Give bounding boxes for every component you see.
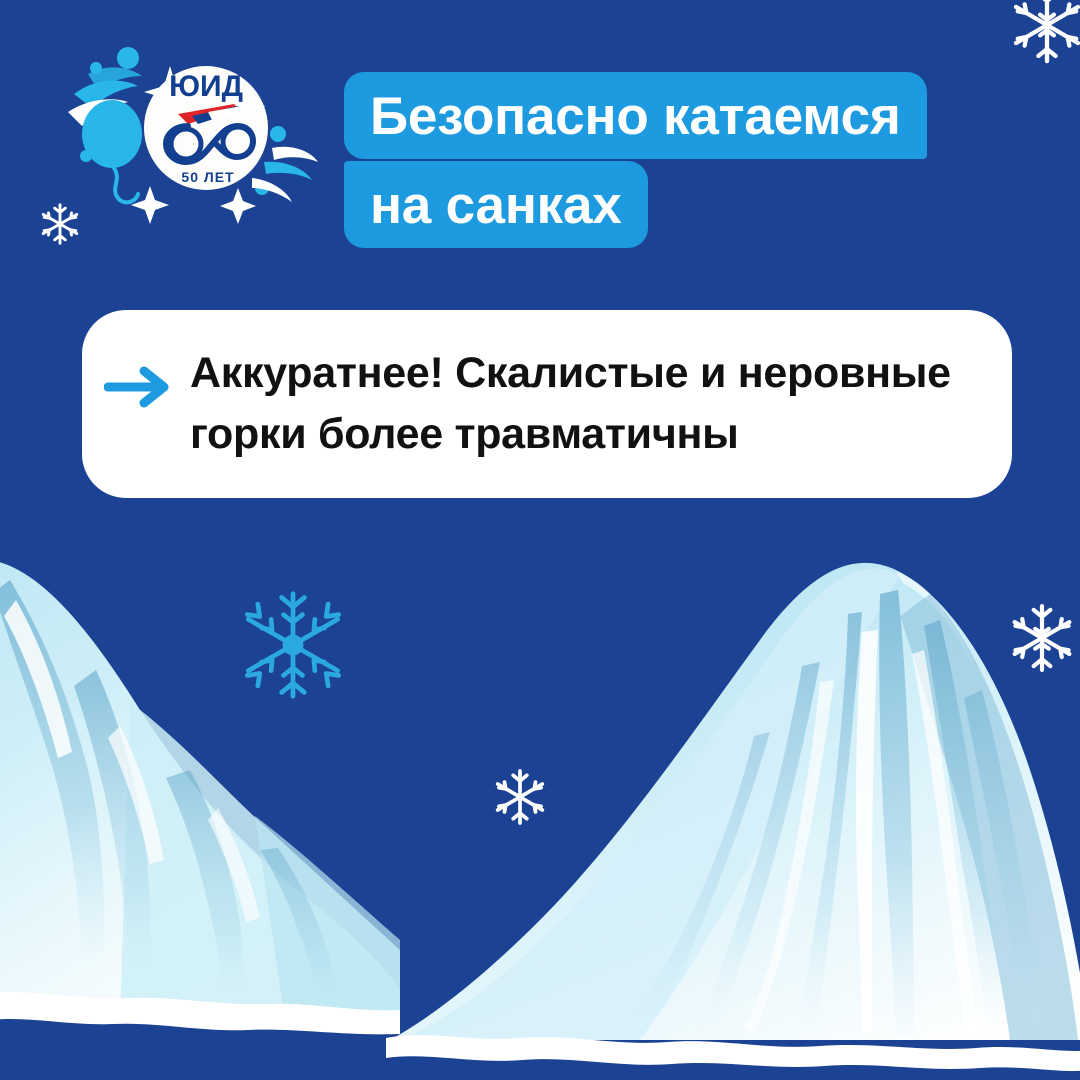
snowflake-large-cyan-icon <box>236 588 350 702</box>
logo-brand-text: ЮИД <box>169 70 243 103</box>
arrow-right-icon <box>104 365 174 409</box>
snowflake-corner-top-right-icon <box>1004 0 1080 68</box>
snowflake-middle-icon <box>489 766 551 828</box>
poster-title: Безопасно катаемся на санках <box>344 72 964 248</box>
tip-card: Аккуратнее! Скалистые и неровные горки б… <box>82 310 1012 498</box>
logo-anniversary-text: 50 ЛЕТ <box>181 169 234 185</box>
poster-canvas: ЮИД 50 ЛЕТ Безопасно катаемся на санках … <box>0 0 1080 1080</box>
yuid-logo: ЮИД 50 ЛЕТ <box>66 38 322 224</box>
snowflake-small-left-icon <box>36 200 84 248</box>
title-line-2: на санках <box>344 161 648 248</box>
title-line-1: Безопасно катаемся <box>344 72 927 159</box>
snowflake-right-edge-icon <box>1004 600 1080 676</box>
tip-text: Аккуратнее! Скалистые и неровные горки б… <box>190 343 978 465</box>
